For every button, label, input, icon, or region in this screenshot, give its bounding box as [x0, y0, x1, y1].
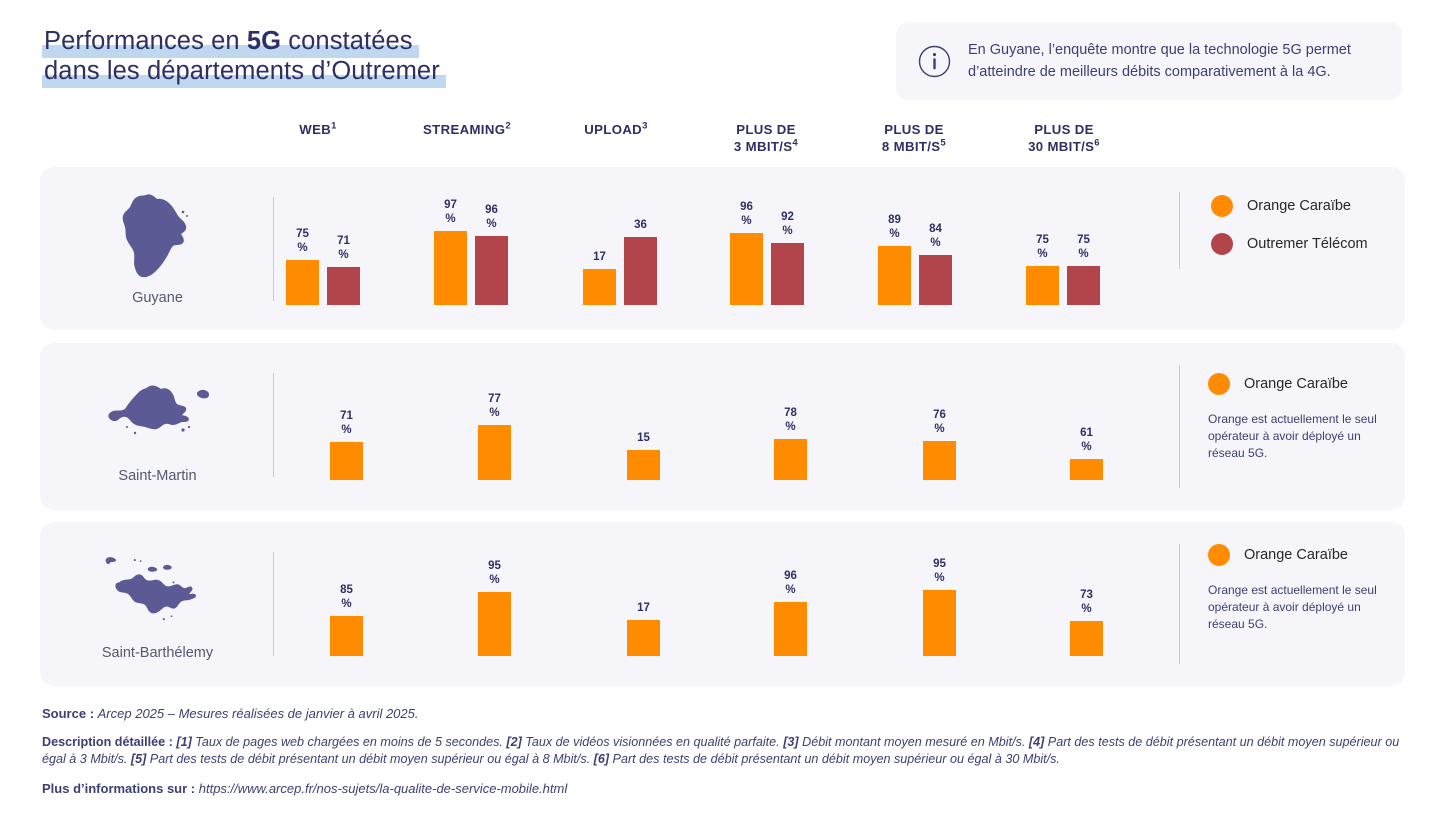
legend-guyane: Orange Caraïbe Outremer Télécom [1211, 195, 1368, 271]
column-headers: WEB1 STREAMING2 UPLOAD3 PLUS DE3 MBIT/S4… [0, 122, 1447, 162]
legend-divider [1179, 544, 1180, 664]
legend-saint-martin: Orange Caraïbe Orange est actuellement l… [1208, 373, 1393, 462]
bar-item: 78% [774, 407, 807, 480]
info-circle-icon [918, 45, 951, 78]
bar-red [624, 237, 657, 305]
bargroup-saintbarth-plus8: 95% [923, 558, 956, 656]
legend-dot-orange-icon [1208, 544, 1230, 566]
bargroup-saintmartin-upload: 15 [627, 432, 660, 481]
footer-more-info-line: Plus d’informations sur : https://www.ar… [42, 780, 1412, 798]
bar-item: 15 [627, 432, 660, 481]
column-header-plus-3mbits: PLUS DE3 MBIT/S4 [706, 122, 826, 155]
region-card-guyane: Guyane 75% 71% 97% 96% [40, 167, 1405, 330]
saint-martin-map-icon [98, 370, 218, 462]
region-label-saint-martin: Saint-Martin [118, 468, 196, 484]
bargroup-guyane-plus8: 89% 84% [878, 214, 952, 305]
info-callout-text: En Guyane, l’enquête montre que la techn… [968, 39, 1380, 83]
bar-item: 89% [878, 214, 911, 305]
bar-red [475, 236, 508, 305]
bar-red [1067, 266, 1100, 305]
bar-item: 76% [923, 409, 956, 480]
bar-item: 96% [730, 201, 763, 305]
footer: Source : Arcep 2025 – Mesures réalisées … [42, 705, 1412, 808]
info-callout-box: En Guyane, l’enquête montre que la techn… [896, 22, 1402, 100]
bar-item: 75% [286, 228, 319, 305]
bar-red [771, 243, 804, 305]
legend-item-orange-caraibe: Orange Caraïbe [1208, 373, 1393, 395]
saint-barthelemy-map-icon [98, 547, 218, 639]
bar-orange [627, 620, 660, 656]
bar-orange [286, 260, 319, 305]
bargroup-saintmartin-plus3: 78% [774, 407, 807, 480]
bar-item: 92% [771, 211, 804, 305]
bar-orange [583, 269, 616, 305]
bar-item: 73% [1070, 589, 1103, 656]
bar-item: 17 [583, 251, 616, 306]
bargroup-saintbarth-upload: 17 [627, 602, 660, 657]
legend-saint-barthelemy: Orange Caraïbe Orange est actuellement l… [1208, 544, 1393, 633]
bar-item: 75% [1067, 234, 1100, 305]
legend-dot-orange-icon [1208, 373, 1230, 395]
bargroup-guyane-plus3: 96% 92% [730, 201, 804, 305]
region-block-guyane: Guyane [40, 167, 275, 330]
bar-item: 96% [774, 570, 807, 656]
bar-item: 97% [434, 199, 467, 305]
title-line-1: Performances en 5G constatées [44, 26, 413, 56]
title-part-bold: 5G [247, 27, 281, 55]
title-part-post: constatées [281, 27, 413, 55]
region-divider [273, 373, 274, 477]
column-header-plus-8mbits: PLUS DE8 MBIT/S5 [854, 122, 974, 155]
bar-orange [1070, 459, 1103, 480]
bar-orange [1070, 621, 1103, 656]
bargroup-saintbarth-plus3: 96% [774, 570, 807, 656]
bar-orange [330, 616, 363, 656]
bar-item: 77% [478, 393, 511, 480]
bar-item: 61% [1070, 427, 1103, 480]
legend-note-saint-barthelemy: Orange est actuellement le seul opérateu… [1208, 582, 1393, 633]
footer-source-value: Arcep 2025 – Mesures réalisées de janvie… [98, 706, 419, 721]
bar-item: 17 [627, 602, 660, 657]
footer-more-label: Plus d’informations sur [42, 781, 187, 796]
title-line-2-text: dans les départements d’Outremer [44, 57, 440, 85]
bar-orange [774, 602, 807, 656]
bar-orange [878, 246, 911, 305]
legend-note-saint-martin: Orange est actuellement le seul opérateu… [1208, 411, 1393, 462]
bargroup-saintmartin-streaming: 77% [478, 393, 511, 480]
column-header-plus-30mbits: PLUS DE30 MBIT/S6 [1003, 122, 1125, 155]
footer-more-url[interactable]: https://www.arcep.fr/nos-sujets/la-quali… [199, 781, 567, 796]
footer-description-line: Description détaillée : [1] Taux de page… [42, 734, 1412, 769]
column-header-web: WEB1 [268, 122, 368, 139]
bargroup-saintbarth-web: 85% [330, 584, 363, 656]
bar-item: 71% [330, 410, 363, 480]
bar-item: 96% [475, 204, 508, 305]
footer-source-line: Source : Arcep 2025 – Mesures réalisées … [42, 705, 1412, 723]
bar-orange [627, 450, 660, 480]
legend-divider [1179, 192, 1180, 269]
bargroup-guyane-upload: 17 36 [583, 219, 657, 306]
infographic-page: Performances en 5G constatées dans les d… [0, 0, 1447, 813]
footer-source-label: Source [42, 706, 86, 721]
bargroup-saintbarth-plus30: 73% [1070, 589, 1103, 656]
bar-item: 95% [478, 560, 511, 656]
bar-item: 95% [923, 558, 956, 656]
guyane-map-icon [98, 192, 218, 284]
bar-orange [923, 441, 956, 480]
title-line-2: dans les départements d’Outremer [44, 56, 440, 86]
region-card-saint-martin: Saint-Martin 71% 77% 15 78% [40, 343, 1405, 510]
bar-orange [774, 439, 807, 480]
bargroup-guyane-plus30: 75% 75% [1026, 234, 1100, 305]
region-label-guyane: Guyane [132, 290, 183, 306]
column-header-streaming: STREAMING2 [392, 122, 542, 139]
region-block-saint-barthelemy: Saint-Barthélemy [40, 522, 275, 686]
region-card-saint-barthelemy: Saint-Barthélemy 85% 95% 17 96% [40, 522, 1405, 686]
footer-desc-label: Description détaillée [42, 735, 165, 749]
bar-item: 36 [624, 219, 657, 306]
bar-item: 85% [330, 584, 363, 656]
bargroup-saintmartin-plus30: 61% [1070, 427, 1103, 480]
bar-item: 71% [327, 235, 360, 305]
legend-divider [1179, 365, 1180, 488]
column-header-upload: UPLOAD3 [556, 122, 676, 139]
bar-red [327, 267, 360, 305]
bar-orange [923, 590, 956, 656]
bar-red [919, 255, 952, 305]
legend-item-orange-caraibe: Orange Caraïbe [1211, 195, 1368, 217]
bar-orange [730, 233, 763, 305]
page-title: Performances en 5G constatées dans les d… [44, 26, 440, 86]
bar-orange [330, 442, 363, 480]
bargroup-guyane-streaming: 97% 96% [434, 199, 508, 305]
bar-orange [434, 231, 467, 305]
bargroup-saintmartin-plus8: 76% [923, 409, 956, 480]
legend-item-orange-caraibe: Orange Caraïbe [1208, 544, 1393, 566]
region-block-saint-martin: Saint-Martin [40, 343, 275, 510]
bar-orange [1026, 266, 1059, 305]
region-label-saint-barthelemy: Saint-Barthélemy [102, 645, 213, 661]
region-divider [273, 552, 274, 656]
bar-item: 84% [919, 223, 952, 305]
bar-item: 75% [1026, 234, 1059, 305]
legend-dot-red-icon [1211, 233, 1233, 255]
region-divider [273, 197, 274, 301]
bargroup-guyane-web: 75% 71% [286, 228, 360, 305]
bar-orange [478, 592, 511, 656]
bar-orange [478, 425, 511, 480]
bargroup-saintmartin-web: 71% [330, 410, 363, 480]
title-part-pre: Performances en [44, 27, 247, 55]
legend-dot-orange-icon [1211, 195, 1233, 217]
legend-item-outremer-telecom: Outremer Télécom [1211, 233, 1368, 255]
bargroup-saintbarth-streaming: 95% [478, 560, 511, 656]
